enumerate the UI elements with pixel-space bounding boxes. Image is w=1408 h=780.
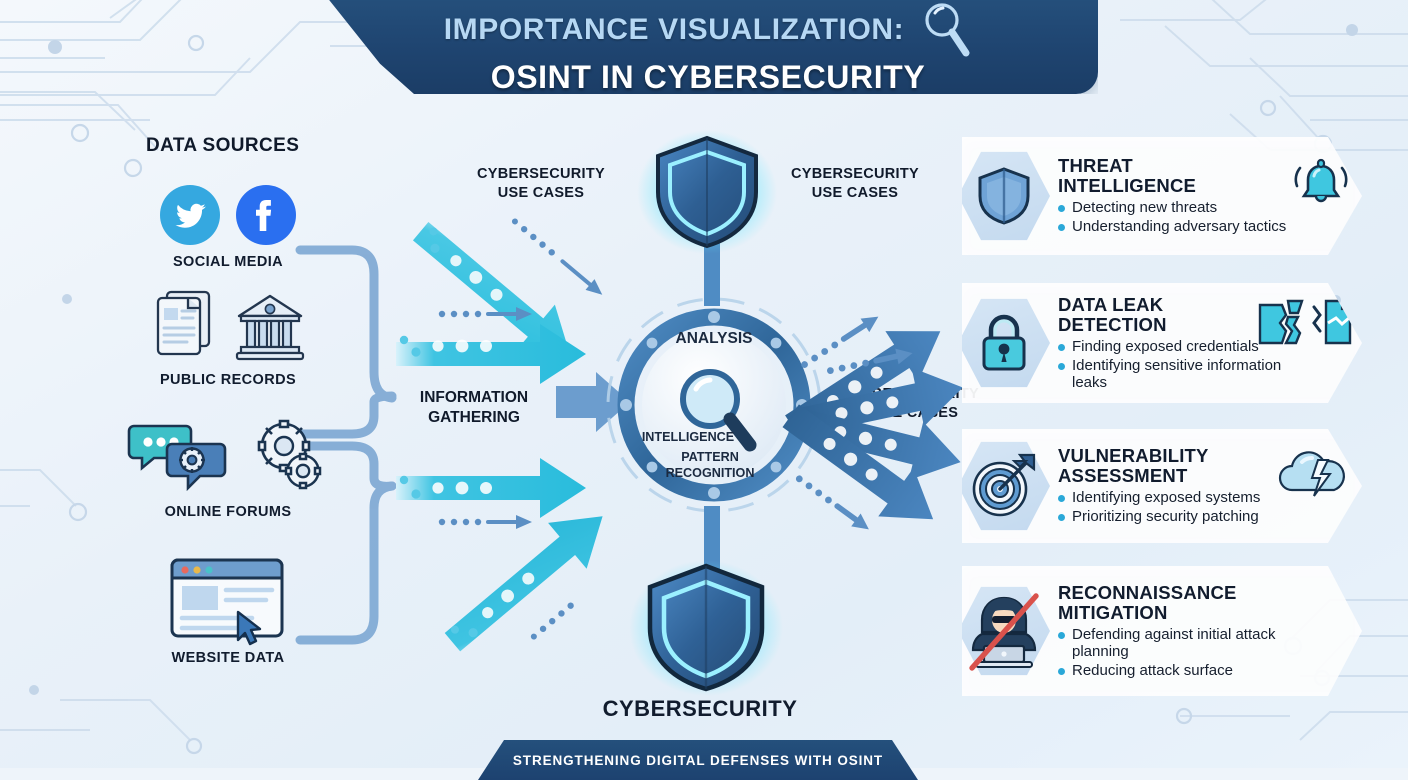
twitter-bird-icon (159, 184, 221, 246)
padlock-icon (975, 311, 1033, 375)
cybersecurity-bottom-label: CYBERSECURITY (560, 696, 840, 722)
card-bullet: Detecting new threats (1058, 199, 1316, 216)
footer-banner: STRENGTHENING DIGITAL DEFENSES WITH OSIN… (478, 740, 918, 780)
gears-icon (250, 416, 328, 496)
page-title-line2: OSINT IN CYBERSECURITY (491, 60, 926, 95)
use-case-card-data-leak-detection[interactable]: DATA LEAKDETECTION Finding exposed crede… (962, 283, 1362, 403)
information-gathering-label: INFORMATION GATHERING (396, 388, 552, 427)
page-title-line1: IMPORTANCE VISUALIZATION: (444, 14, 905, 46)
card-bullet: Defending against initial attack plannin… (1058, 626, 1316, 660)
data-source-label: WEBSITE DATA (128, 650, 328, 666)
glowing-shield-icon (636, 126, 778, 256)
use-case-card-reconnaissance-mitigation[interactable]: RECONNAISSANCEMITIGATION Defending again… (962, 566, 1362, 696)
data-source-website-data[interactable]: WEBSITE DATA (128, 578, 328, 666)
documents-icon (149, 288, 219, 364)
data-source-label: PUBLIC RECORDS (128, 372, 328, 388)
card-bullet: Prioritizing security patching (1058, 508, 1316, 525)
hub-label-pattern: PATTERN (681, 450, 739, 464)
card-bullet: Reducing attack surface (1058, 662, 1316, 679)
data-source-social-media[interactable]: SOCIAL MEDIA (128, 182, 328, 270)
hub-label-analysis: ANALYSIS (676, 330, 753, 347)
data-sources-heading: DATA SOURCES (146, 135, 299, 157)
magnifier-icon (918, 0, 972, 60)
card-bullet-list: Defending against initial attack plannin… (1058, 626, 1316, 679)
card-bullet: Identifying sensitive information leaks (1058, 357, 1316, 391)
use-case-card-threat-intelligence[interactable]: THREATINTELLIGENCE Detecting new threats… (962, 137, 1362, 255)
card-bullet-list: Detecting new threats Understanding adve… (1058, 199, 1316, 235)
card-content: THREATINTELLIGENCE Detecting new threats… (1050, 156, 1362, 235)
infographic-canvas: IMPORTANCE VISUALIZATION: OSINT IN CYBER… (0, 0, 1408, 768)
data-source-label: ONLINE FORUMS (128, 504, 328, 520)
card-title: RECONNAISSANCEMITIGATION (1058, 583, 1316, 623)
chat-bubbles-icon (128, 418, 236, 496)
blocked-hacker-icon (962, 590, 1046, 672)
target-arrow-icon (970, 453, 1038, 519)
card-icon-hexagon (958, 148, 1050, 244)
broken-document-icon (1256, 297, 1352, 347)
cloud-lightning-icon (1272, 448, 1352, 498)
data-source-online-forums[interactable]: ONLINE FORUMS (128, 432, 328, 520)
card-icon-hexagon (958, 295, 1050, 391)
card-content: DATA LEAKDETECTION Finding exposed crede… (1050, 295, 1362, 391)
card-icon-hexagon (958, 583, 1050, 679)
use-case-card-vulnerability-assessment[interactable]: VULNERABILITYASSESSMENT Identifying expo… (962, 429, 1362, 543)
hub-label-recognition: RECOGNITION (666, 466, 755, 480)
card-content: VULNERABILITYASSESSMENT Identifying expo… (1050, 446, 1362, 525)
shield-icon (976, 165, 1032, 227)
glowing-shield-icon (628, 556, 784, 698)
browser-window-cursor-icon (168, 556, 288, 642)
card-title: THREATINTELLIGENCE (1058, 156, 1273, 196)
card-icon-hexagon (958, 438, 1050, 534)
facebook-f-icon (235, 184, 297, 246)
data-source-label: SOCIAL MEDIA (128, 254, 328, 270)
bank-building-icon (233, 290, 307, 364)
footer-text: STRENGTHENING DIGITAL DEFENSES WITH OSIN… (513, 753, 883, 768)
outbound-arrow-fan (790, 170, 990, 640)
card-title: VULNERABILITYASSESSMENT (1058, 446, 1273, 486)
data-source-public-records[interactable]: PUBLIC RECORDS (128, 300, 328, 388)
header-title-block: IMPORTANCE VISUALIZATION: OSINT IN CYBER… (318, 0, 1098, 94)
card-bullet: Understanding adversary tactics (1058, 218, 1316, 235)
hub-label-intelligence: INTELLIGENCE (642, 430, 734, 444)
alert-bell-icon (1290, 158, 1352, 212)
card-title: DATA LEAKDETECTION (1058, 295, 1273, 335)
card-content: RECONNAISSANCEMITIGATION Defending again… (1050, 583, 1362, 679)
use-case-label-top-left: CYBERSECURITY USE CASES (466, 165, 616, 202)
